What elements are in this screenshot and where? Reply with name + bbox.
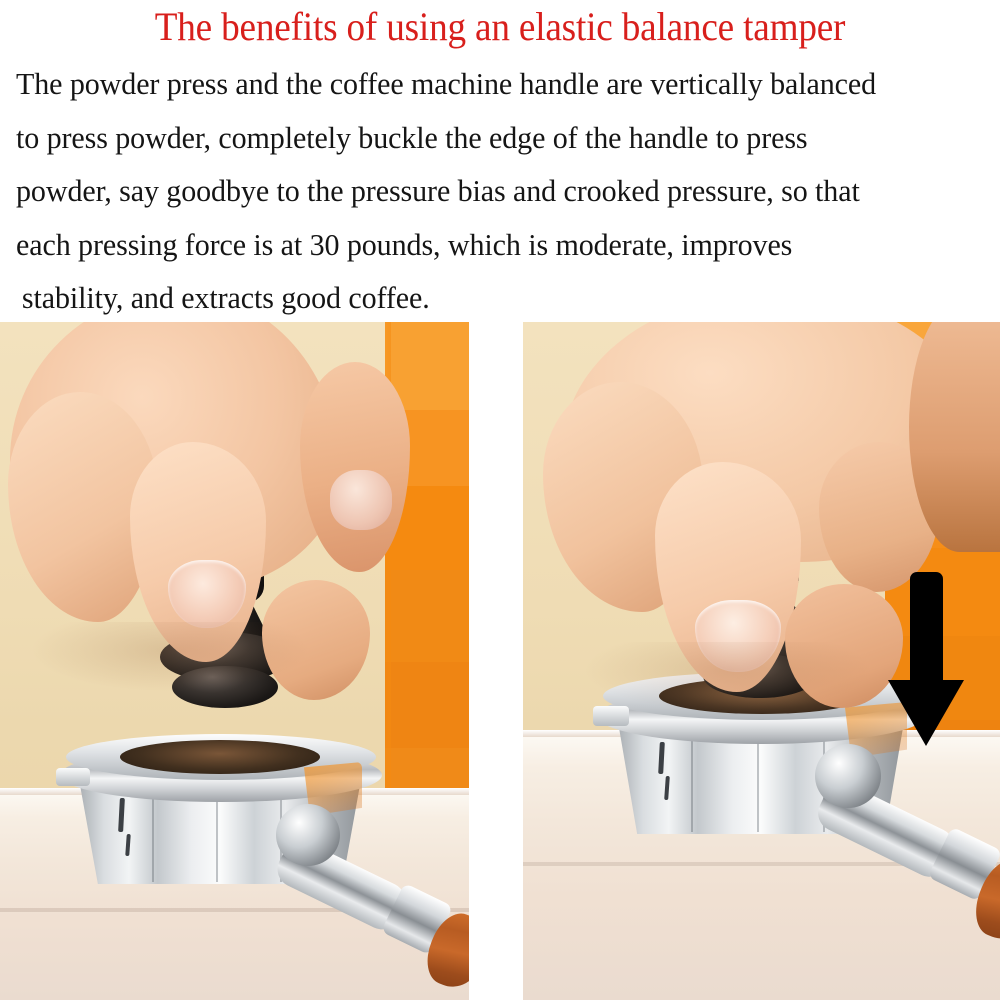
left-hand (0, 322, 360, 722)
body-line-1: The powder press and the coffee machine … (16, 58, 976, 112)
left-photo (0, 322, 469, 1000)
right-portafilter-spout (823, 762, 1000, 942)
down-arrow-icon (888, 572, 964, 746)
page-title: The benefits of using an elastic balance… (35, 4, 965, 50)
body-paragraph: The powder press and the coffee machine … (16, 58, 991, 326)
right-photo (523, 322, 1000, 1000)
body-line-5: stability, and extracts good coffee. (16, 272, 976, 326)
body-line-3: powder, say goodbye to the pressure bias… (16, 165, 976, 219)
product-infographic: The benefits of using an elastic balance… (0, 0, 1000, 1000)
body-line-4: each pressing force is at 30 pounds, whi… (16, 219, 976, 273)
body-line-2: to press powder, completely buckle the e… (16, 112, 976, 166)
left-portafilter-spout (282, 822, 469, 982)
text-section: The benefits of using an elastic balance… (0, 0, 1000, 322)
